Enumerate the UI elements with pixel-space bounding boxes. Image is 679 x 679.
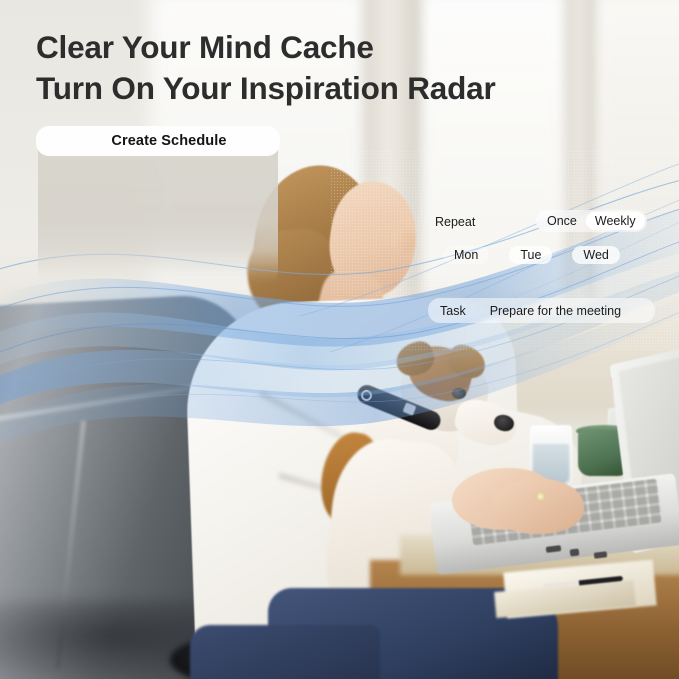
headline-line-1: Clear Your Mind Cache	[36, 27, 656, 68]
repeat-option-once[interactable]: Once	[538, 212, 586, 230]
hour-option[interactable]: 04	[143, 283, 187, 285]
repeat-label: Repeat	[435, 215, 475, 229]
task-field[interactable]: Task Prepare for the meeting	[428, 298, 655, 323]
create-schedule-title: Create Schedule	[89, 133, 226, 149]
weekday-chip-tue[interactable]: Tue	[509, 246, 552, 264]
create-schedule-header: Create Schedule	[36, 126, 280, 156]
time-picker-hours-column[interactable]: 04 05 06 07 08 09 10 11	[143, 283, 187, 285]
headline-line-2: Turn On Your Inspiration Radar	[36, 68, 656, 109]
task-label: Task	[428, 304, 466, 318]
ui-overlay: Clear Your Mind Cache Turn On Your Inspi…	[0, 0, 679, 679]
time-picker-minutes-column[interactable]: 57 58 58 59 00 01 02 03	[209, 283, 253, 285]
weekday-chip-wed[interactable]: Wed	[572, 246, 619, 264]
time-picker[interactable]: 04 05 06 07 08 09 10 11 57 58 58 59 00 0…	[121, 283, 271, 285]
task-value[interactable]: Prepare for the meeting	[466, 304, 621, 318]
weekday-selector[interactable]: Mon Tue Wed	[443, 246, 620, 264]
page-title: Clear Your Mind Cache Turn On Your Inspi…	[36, 27, 656, 108]
weekday-chip-mon[interactable]: Mon	[443, 246, 489, 264]
repeat-segmented-control[interactable]: Once Weekly	[536, 210, 647, 232]
minute-option[interactable]: 57	[209, 283, 253, 285]
screenshot-canvas: Clear Your Mind Cache Turn On Your Inspi…	[0, 0, 679, 679]
repeat-option-weekly[interactable]: Weekly	[586, 212, 645, 230]
